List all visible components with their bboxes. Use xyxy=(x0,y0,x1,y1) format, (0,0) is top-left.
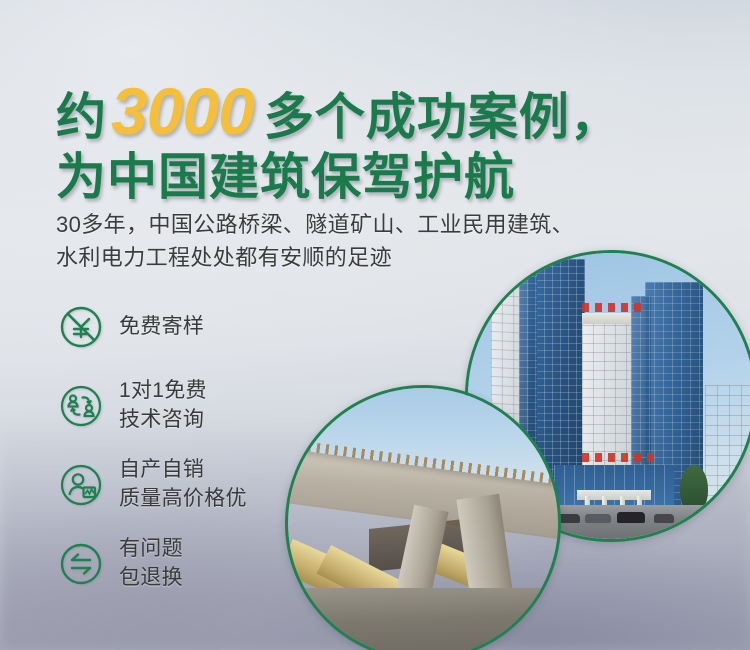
feature-label-line-1: 自产自销 xyxy=(119,456,247,485)
headline-number: 3000 xyxy=(111,78,254,144)
headline-block: 约 3000 多个成功案例， 为中国建筑保驾护航 xyxy=(56,78,696,202)
self-production-chart-icon xyxy=(57,461,105,509)
feature-label-line-1: 免费寄样 xyxy=(119,313,204,342)
return-exchange-arrows-icon xyxy=(57,540,105,588)
feature-label-line-2: 包退换 xyxy=(119,564,183,593)
feature-label: 自产自销 质量高价格优 xyxy=(119,456,247,513)
no-fee-yuan-icon xyxy=(57,303,105,351)
feature-label-line-2: 质量高价格优 xyxy=(119,485,247,514)
photo-car xyxy=(654,514,674,523)
feature-label-line-1: 1对1免费 xyxy=(119,377,207,406)
photo-facade-sign xyxy=(582,453,659,462)
feature-item: 免费寄样 xyxy=(57,296,247,358)
feature-item: 1对1免费 技术咨询 xyxy=(57,375,247,437)
feature-list: 免费寄样 1对1免费 技术咨询 xyxy=(57,296,247,612)
feature-item: 自产自销 质量高价格优 xyxy=(57,454,247,516)
feature-label-line-2: 技术咨询 xyxy=(119,406,207,435)
photo-car xyxy=(585,514,611,523)
headline-line2-text: 为中国建筑保驾护航 xyxy=(56,152,515,202)
headline-line-2: 为中国建筑保驾护航 xyxy=(56,152,696,202)
headline-suffix: 多个成功案例， xyxy=(264,92,621,142)
photo-roof-sign xyxy=(582,303,645,312)
headline-prefix: 约 xyxy=(56,92,107,142)
feature-label: 免费寄样 xyxy=(119,313,204,342)
bridge-viaduct-photo xyxy=(285,385,561,650)
feature-item: 有问题 包退换 xyxy=(57,533,247,595)
photo-building-far-right xyxy=(705,385,750,505)
one-to-one-consult-icon xyxy=(57,382,105,430)
feature-label-line-1: 有问题 xyxy=(119,535,183,564)
photo-car xyxy=(617,512,646,523)
subtitle-line-1: 30多年，中国公路桥梁、隧道矿山、工业民用建筑、 xyxy=(56,208,716,241)
headline-line-1: 约 3000 多个成功案例， xyxy=(56,78,696,144)
feature-label: 有问题 包退换 xyxy=(119,535,183,592)
photo-ground-rubble xyxy=(288,588,558,650)
promo-banner: 约 3000 多个成功案例， 为中国建筑保驾护航 30多年，中国公路桥梁、隧道矿… xyxy=(0,0,750,650)
photo-podium xyxy=(554,465,674,511)
feature-label: 1对1免费 技术咨询 xyxy=(119,377,207,434)
